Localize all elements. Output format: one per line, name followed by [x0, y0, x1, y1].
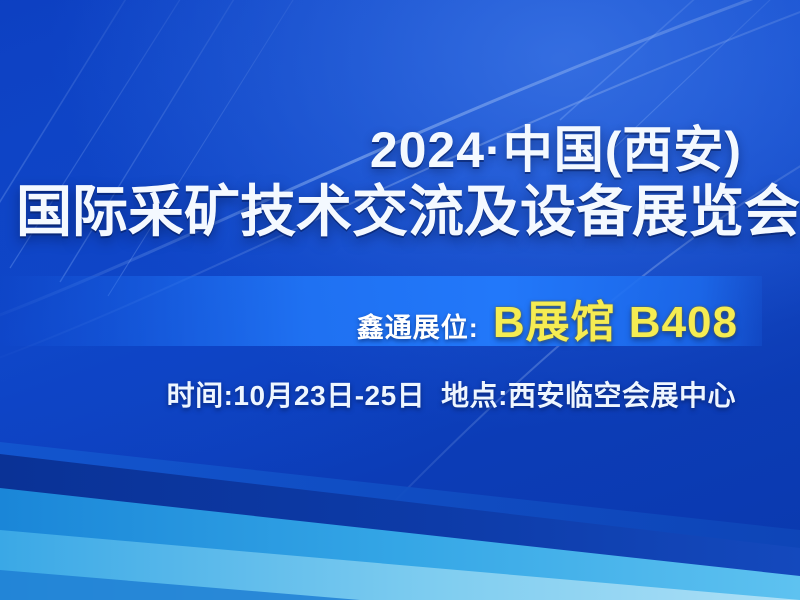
exhibition-poster: 2024·中国(西安) 国际采矿技术交流及设备展览会 鑫通展位: B展馆 B40… — [0, 0, 800, 600]
booth-label: 鑫通展位: — [357, 306, 479, 345]
poster-content: 2024·中国(西安) 国际采矿技术交流及设备展览会 鑫通展位: B展馆 B40… — [0, 0, 800, 600]
booth-row: 鑫通展位: B展馆 B408 — [0, 286, 738, 350]
booth-number: B展馆 B408 — [493, 286, 738, 350]
poster-title-line-2: 国际采矿技术交流及设备展览会 — [16, 180, 784, 244]
event-date: 时间:10月23日-25日 — [167, 380, 426, 411]
poster-title-line-1: 2024·中国(西安) — [0, 122, 742, 178]
event-info-row: 时间:10月23日-25日地点:西安临空会展中心 — [0, 374, 736, 414]
event-venue: 地点:西安临空会展中心 — [441, 380, 736, 411]
